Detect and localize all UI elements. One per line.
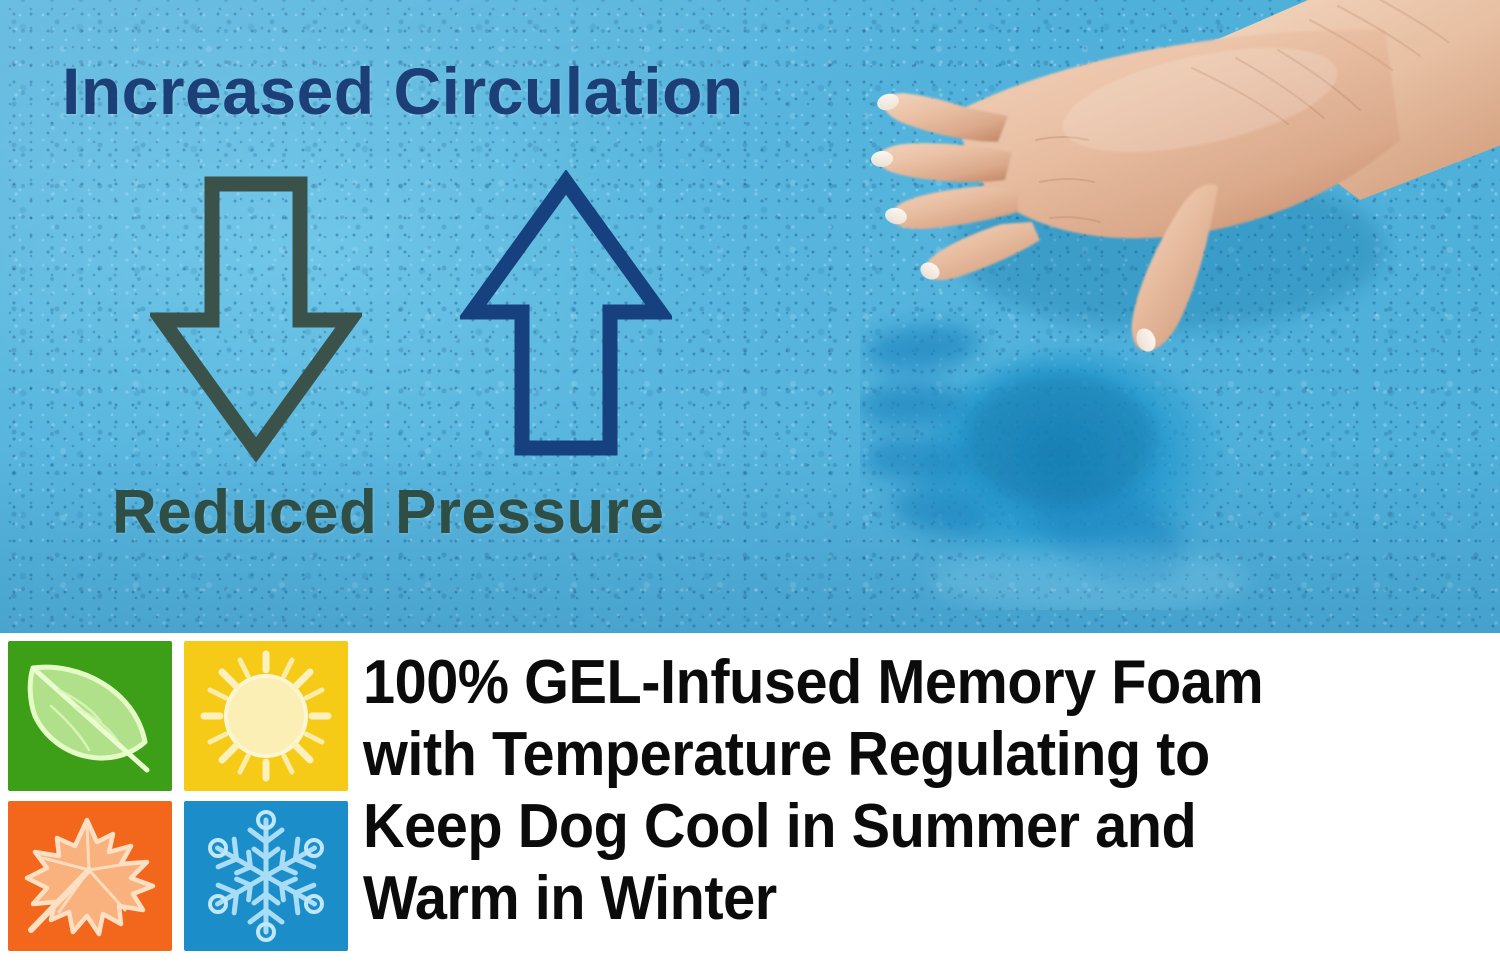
gel-foam-photo: Increased Circulation Reduced Pressure — [0, 0, 1500, 633]
increased-circulation-label: Increased Circulation — [62, 58, 744, 124]
hand-press-composite — [840, 0, 1500, 633]
reduced-pressure-label: Reduced Pressure — [112, 482, 664, 544]
hand-illustration — [840, 0, 1500, 450]
down-arrow-icon — [150, 172, 362, 469]
maple-leaf-icon — [15, 806, 165, 946]
headline-line-3: Keep Dog Cool in Summer and — [363, 791, 1414, 863]
leaf-icon — [15, 646, 165, 786]
product-info-panel: 100% GEL-Infused Memory Foam with Temper… — [0, 633, 1500, 962]
snowflake-icon — [195, 806, 337, 946]
season-tile-autumn — [8, 801, 172, 951]
headline-line-4: Warm in Winter — [363, 863, 1414, 935]
headline-line-2: with Temperature Regulating to — [363, 719, 1414, 791]
up-arrow-icon — [460, 170, 672, 467]
sun-icon — [192, 646, 340, 786]
season-tile-spring — [8, 641, 172, 791]
season-tile-winter — [184, 801, 348, 951]
product-feature-graphic: Increased Circulation Reduced Pressure — [0, 0, 1500, 962]
product-headline: 100% GEL-Infused Memory Foam with Temper… — [363, 647, 1493, 935]
season-tile-summer — [184, 641, 348, 791]
four-season-icon-grid — [8, 641, 348, 955]
headline-line-1: 100% GEL-Infused Memory Foam — [363, 647, 1414, 719]
